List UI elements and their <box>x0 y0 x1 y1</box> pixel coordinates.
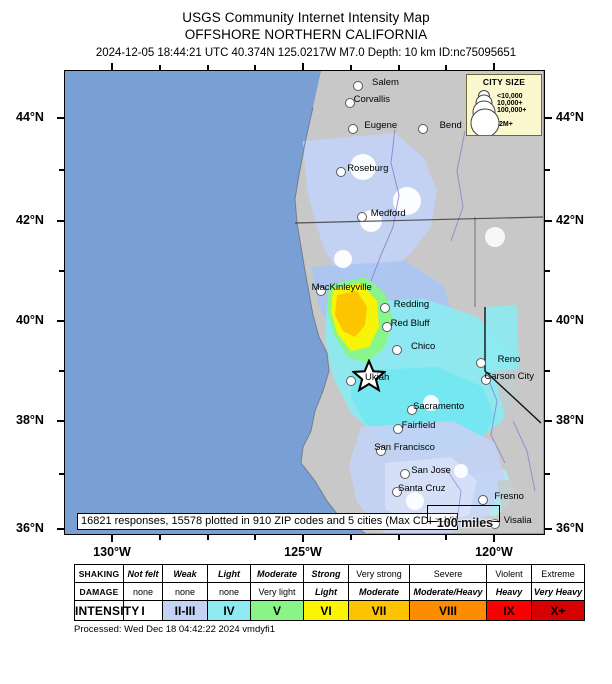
nodata-hole <box>485 227 505 247</box>
nodata-hole <box>406 492 424 510</box>
lon-label: 125°W <box>276 545 330 559</box>
lon-minor-tick <box>350 535 352 540</box>
scale-cell-damage: Moderate <box>349 583 410 601</box>
city-legend-entry-2: 100,000+ <box>497 107 526 114</box>
lat-minor-tick <box>59 473 64 475</box>
scale-cell-shaking: Light <box>208 565 251 583</box>
lon-minor-tick <box>159 65 161 70</box>
lon-tick <box>111 535 113 542</box>
scale-cell-intensity: VIII <box>410 601 487 621</box>
scale-cell-shaking: Strong <box>304 565 349 583</box>
city-label: Eugene <box>364 120 397 131</box>
lon-minor-tick <box>207 65 209 70</box>
city-label: Sacramento <box>413 401 464 412</box>
lat-tick <box>545 420 552 422</box>
lon-label: 130°W <box>85 545 139 559</box>
lon-minor-tick <box>350 65 352 70</box>
lat-tick <box>545 320 552 322</box>
city-marker <box>353 81 363 91</box>
scale-cell-damage: none <box>124 583 163 601</box>
city-marker <box>348 124 358 134</box>
scale-cell-intensity: II-III <box>163 601 208 621</box>
title-line-1: USGS Community Internet Intensity Map <box>0 10 612 25</box>
lat-tick <box>57 117 64 119</box>
city-marker <box>336 167 346 177</box>
scale-cell-damage: Light <box>304 583 349 601</box>
scale-cell-intensity: IX <box>487 601 532 621</box>
city-legend-entry-1: 10,000+ <box>497 100 523 107</box>
lat-tick <box>57 220 64 222</box>
lat-label: 38°N <box>16 413 44 427</box>
scale-cell-intensity: IV <box>208 601 251 621</box>
scale-cell-damage: Very light <box>251 583 304 601</box>
lat-label: 44°N <box>556 110 584 124</box>
city-label: Roseburg <box>347 163 388 174</box>
city-marker <box>400 469 410 479</box>
scale-cell-intensity: V <box>251 601 304 621</box>
lat-label: 42°N <box>16 213 44 227</box>
city-label: Ukiah <box>365 372 389 383</box>
lat-minor-tick <box>545 169 550 171</box>
lat-minor-tick <box>545 370 550 372</box>
lon-minor-tick <box>207 535 209 540</box>
lon-tick <box>302 63 304 70</box>
lon-minor-tick <box>398 535 400 540</box>
city-size-legend: CITY SIZE <10,000 10,000+ 100,000+ 2M+ <box>466 74 542 136</box>
scale-cell-intensity: X+ <box>532 601 585 621</box>
responses-summary: 16821 responses, 15578 plotted in 910 ZI… <box>77 513 458 530</box>
lat-tick <box>57 420 64 422</box>
lat-minor-tick <box>59 370 64 372</box>
scale-cell-damage: none <box>208 583 251 601</box>
map-geometry <box>65 71 543 533</box>
intensity-scale-table: SHAKINGNot feltWeakLightModerateStrongVe… <box>74 564 585 621</box>
lat-label: 42°N <box>556 213 584 227</box>
lon-minor-tick <box>254 65 256 70</box>
lon-minor-tick <box>445 535 447 540</box>
intensity-map[interactable] <box>64 70 545 535</box>
table-row-intensity: INTENSITYIII-IIIIVVVIVIIVIIIIXX+ <box>75 601 585 621</box>
scale-cell-shaking: Moderate <box>251 565 304 583</box>
scale-bar-label: 100 miles <box>420 516 510 530</box>
city-label: San Francisco <box>374 442 435 453</box>
lat-label: 38°N <box>556 413 584 427</box>
city-marker <box>346 376 356 386</box>
city-legend-entry-3: 2M+ <box>499 121 513 128</box>
scale-cell-shaking: Not felt <box>124 565 163 583</box>
scale-cell-shaking: Extreme <box>532 565 585 583</box>
city-marker <box>478 495 488 505</box>
lon-tick <box>111 63 113 70</box>
lat-tick <box>545 117 552 119</box>
lat-tick <box>545 220 552 222</box>
city-label: Corvallis <box>354 94 390 105</box>
scale-row-label: SHAKING <box>75 565 124 583</box>
scale-row-label: INTENSITY <box>75 601 124 621</box>
city-marker <box>476 358 486 368</box>
city-legend-entry-0: <10,000 <box>497 93 523 100</box>
city-label: Red Bluff <box>391 318 430 329</box>
processed-timestamp: Processed: Wed Dec 18 04:42:22 2024 vmdy… <box>74 624 275 635</box>
lat-tick <box>57 320 64 322</box>
lon-tick <box>302 535 304 542</box>
scale-cell-shaking: Violent <box>487 565 532 583</box>
scale-cell-shaking: Severe <box>410 565 487 583</box>
city-marker <box>418 124 428 134</box>
lat-label: 40°N <box>556 313 584 327</box>
scale-cell-damage: Heavy <box>487 583 532 601</box>
city-label: Bend <box>440 120 462 131</box>
lon-minor-tick <box>159 535 161 540</box>
scale-row-label: DAMAGE <box>75 583 124 601</box>
event-info-line: 2024-12-05 18:44:21 UTC 40.374N 125.0217… <box>0 47 612 59</box>
map-canvas <box>65 71 544 534</box>
table-row-shaking: SHAKINGNot feltWeakLightModerateStrongVe… <box>75 565 585 583</box>
city-marker <box>392 345 402 355</box>
lon-minor-tick <box>398 65 400 70</box>
lat-tick <box>57 528 64 530</box>
city-label: Chico <box>411 341 435 352</box>
lat-minor-tick <box>59 169 64 171</box>
lat-label: 40°N <box>16 313 44 327</box>
table-row-damage: DAMAGEnonenonenoneVery lightLightModerat… <box>75 583 585 601</box>
scale-cell-shaking: Very strong <box>349 565 410 583</box>
lat-label: 44°N <box>16 110 44 124</box>
nodata-hole <box>454 464 468 478</box>
lat-minor-tick <box>59 270 64 272</box>
city-label: Redding <box>394 299 429 310</box>
lat-label: 36°N <box>16 521 44 535</box>
city-label: Fresno <box>494 491 524 502</box>
city-label: MacKinleyville <box>312 282 372 293</box>
lat-minor-tick <box>545 473 550 475</box>
city-label: Santa Cruz <box>398 483 446 494</box>
city-marker <box>357 212 367 222</box>
scale-cell-intensity: VI <box>304 601 349 621</box>
lat-label: 36°N <box>556 521 584 535</box>
scale-cell-damage: Very Heavy <box>532 583 585 601</box>
city-label: Carson City <box>484 371 534 382</box>
title-line-2: OFFSHORE NORTHERN CALIFORNIA <box>0 27 612 42</box>
city-label: Reno <box>498 354 521 365</box>
scale-cell-damage: none <box>163 583 208 601</box>
scale-cell-intensity: VII <box>349 601 410 621</box>
lon-minor-tick <box>254 535 256 540</box>
nodata-hole <box>334 250 352 268</box>
lat-tick <box>545 528 552 530</box>
city-legend-title: CITY SIZE <box>467 77 541 87</box>
lon-minor-tick <box>445 65 447 70</box>
map-header: USGS Community Internet Intensity Map OF… <box>0 0 612 59</box>
city-label: Fairfield <box>402 420 436 431</box>
city-label: Salem <box>372 77 399 88</box>
lat-minor-tick <box>545 270 550 272</box>
scale-cell-shaking: Weak <box>163 565 208 583</box>
lon-label: 120°W <box>467 545 521 559</box>
lon-tick <box>493 63 495 70</box>
lon-tick <box>493 535 495 542</box>
city-label: Medford <box>371 208 406 219</box>
city-marker <box>380 303 390 313</box>
scale-cell-damage: Moderate/Heavy <box>410 583 487 601</box>
city-label: San Jose <box>411 465 451 476</box>
